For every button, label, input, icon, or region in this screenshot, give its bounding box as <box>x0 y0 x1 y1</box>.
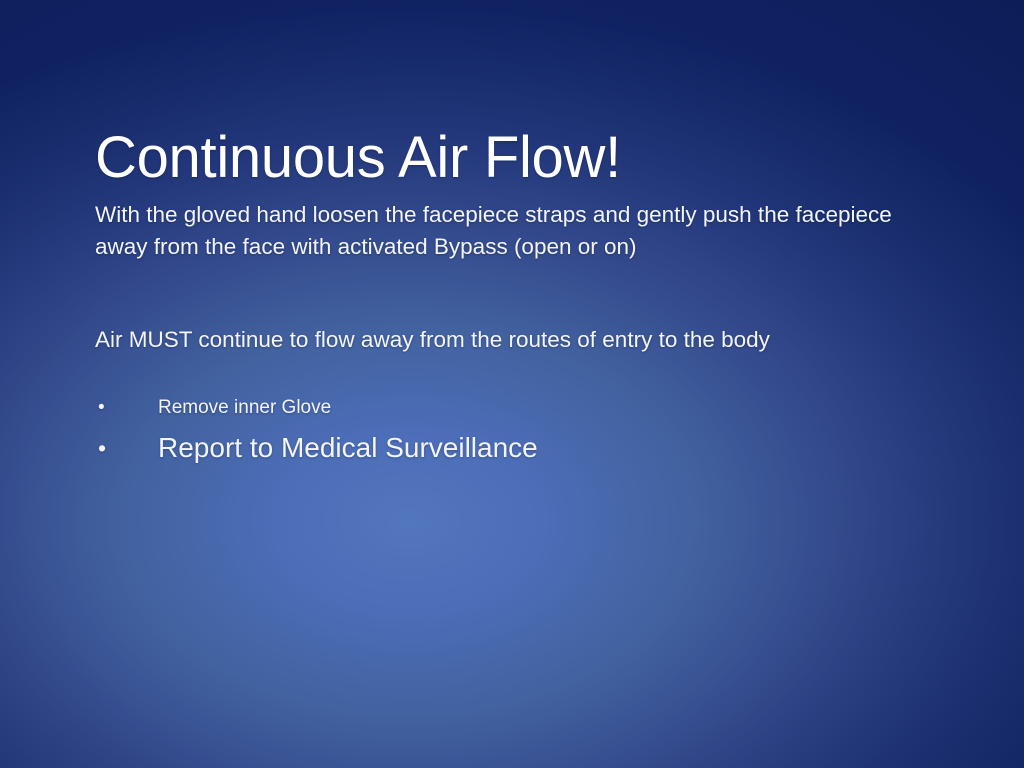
list-item: • Remove inner Glove <box>95 394 915 421</box>
bullet-point-icon: • <box>98 429 106 467</box>
list-item: • Report to Medical Surveillance <box>95 429 915 467</box>
bullet-point-icon: • <box>98 394 105 421</box>
bullet-list: • Remove inner Glove • Report to Medical… <box>95 394 915 467</box>
list-item-label: Remove inner Glove <box>158 394 331 421</box>
intro-paragraph: With the gloved hand loosen the facepiec… <box>95 199 940 263</box>
list-item-label: Report to Medical Surveillance <box>158 429 538 467</box>
emphasis-paragraph: Air MUST continue to flow away from the … <box>95 324 955 356</box>
slide-content-area: Continuous Air Flow! With the gloved han… <box>95 0 975 768</box>
presentation-slide: Continuous Air Flow! With the gloved han… <box>0 0 1024 768</box>
slide-title: Continuous Air Flow! <box>95 125 621 191</box>
